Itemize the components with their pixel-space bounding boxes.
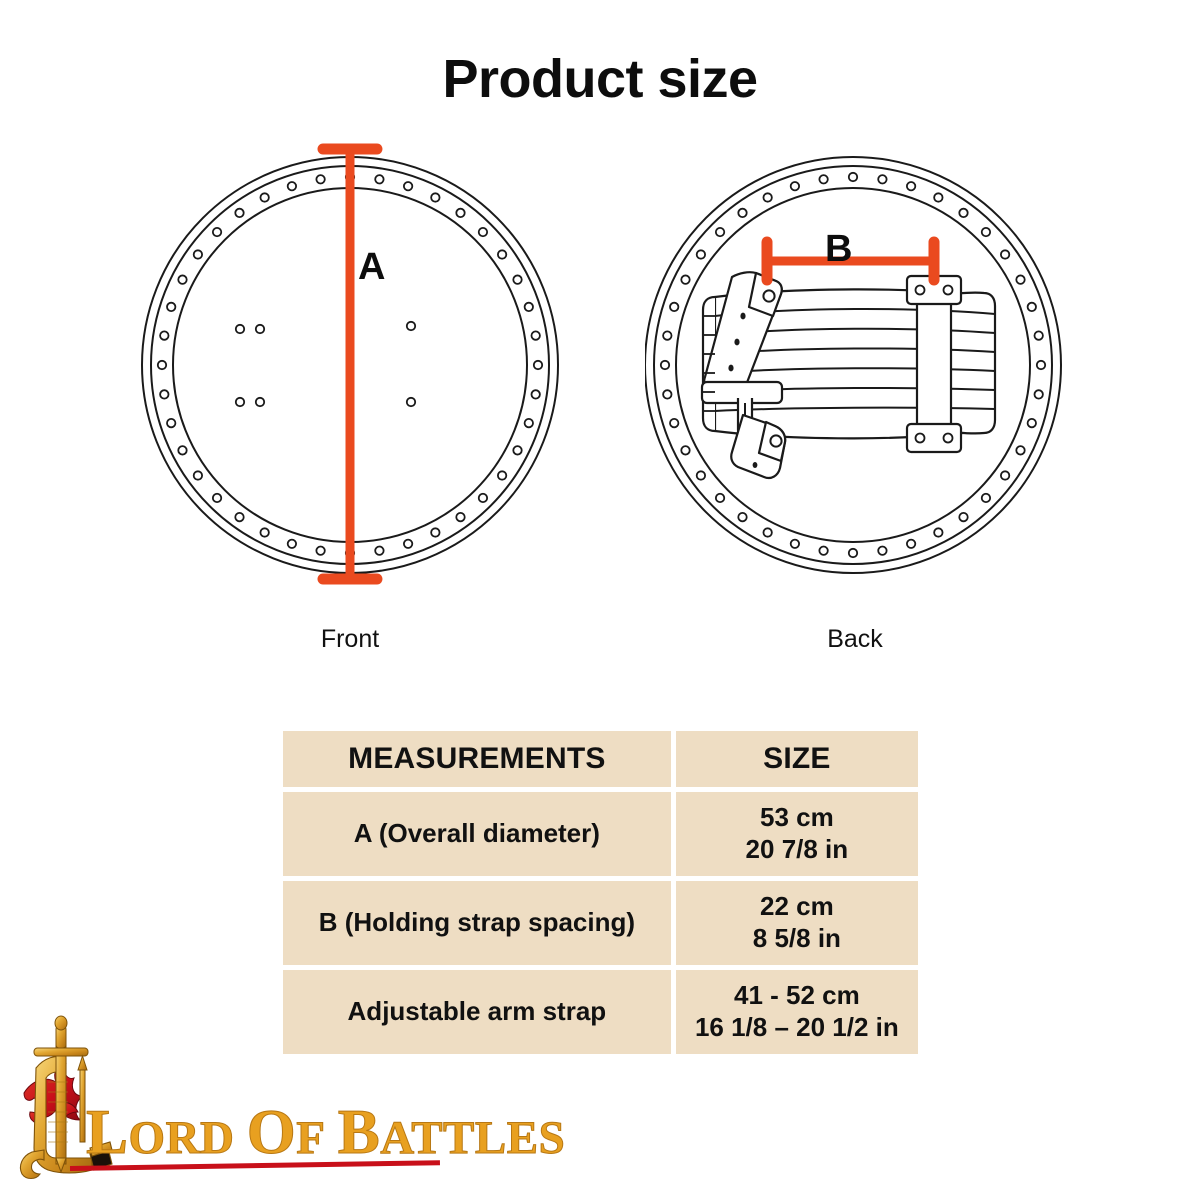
rim-rivet [982,228,990,236]
rim-rivet [167,419,175,427]
table-header-row: MEASUREMENTS SIZE [283,731,918,787]
face-fixing-hole [407,322,415,330]
rim-rivet [907,182,915,190]
rim-rivet [1028,419,1036,427]
rim-rivet [1034,390,1042,398]
rim-rivet [1001,471,1009,479]
table-row: B (Holding strap spacing) 22 cm 8 5/8 in [283,881,918,965]
face-fixing-hole [407,398,415,406]
rim-rivet [663,390,671,398]
rim-rivet [670,419,678,427]
wordmark-battles-rest: ATTLES [380,1112,565,1164]
rim-rivet [663,331,671,339]
rim-rivet [431,193,439,201]
strap-tip-rivet-bottom [770,435,781,446]
rim-rivet [934,193,942,201]
rim-rivet [404,540,412,548]
rim-rivet [456,209,464,217]
rim-rivet [160,331,168,339]
plate-rivet [916,286,925,295]
rim-rivet [260,528,268,536]
rim-rivet [849,549,857,557]
rim-rivet [525,303,533,311]
rim-rivet [878,175,886,183]
rim-rivet [791,540,799,548]
rim-rivet [661,361,669,369]
strap-hole [740,313,745,320]
rim-rivet [498,250,506,258]
rim-rivet [763,193,771,201]
rim-rivet [235,209,243,217]
rim-rivet [531,390,539,398]
brand-wordmark: LORD OF BATTLES [86,1096,565,1169]
rim-rivet [982,494,990,502]
rim-rivet [213,494,221,502]
rim-rivet [1016,275,1024,283]
rim-rivet [738,209,746,217]
plate-rivet [916,434,925,443]
rim-rivet [194,471,202,479]
rim-rivet [404,182,412,190]
value-metric: 22 cm [676,891,918,923]
measurement-value-arm-strap: 41 - 52 cm 16 1/8 – 20 1/2 in [676,970,918,1054]
rim-rivet [716,228,724,236]
rim-rivet [525,419,533,427]
rim-rivet [849,173,857,181]
rim-rivet [160,390,168,398]
rim-rivet [235,513,243,521]
rim-rivet [959,513,967,521]
dimension-b-label: B [825,230,852,268]
wordmark-of-cap: O [247,1097,297,1167]
measurement-name-b: B (Holding strap spacing) [283,881,671,965]
rim-rivet [670,303,678,311]
strap-hole [728,365,733,372]
rim-rivet [479,494,487,502]
front-view-caption: Front [140,625,560,654]
header-measurements: MEASUREMENTS [283,731,671,787]
heraldic-flourish [24,1064,82,1126]
rim-rivet [681,275,689,283]
wordmark-lord-rest: ORD [129,1112,235,1164]
rim-rivet [697,471,705,479]
rim-rivet [431,528,439,536]
rim-rivet [288,540,296,548]
rim-rivet [738,513,746,521]
face-fixing-hole-group [236,322,415,406]
rim-rivet [534,361,542,369]
rim-rivet [934,528,942,536]
rim-rivet [316,546,324,554]
rim-rivet [288,182,296,190]
strap-hole [734,339,739,346]
wordmark-lord-cap: L [86,1097,129,1167]
dimension-a-label: A [358,248,385,286]
shield-front-figure: A Front [140,130,560,670]
dimension-a-line [323,149,377,579]
shield-back-drawing [645,130,1065,630]
rim-rivet [375,175,383,183]
face-fixing-hole [236,398,244,406]
rim-rivet [907,540,915,548]
rim-rivet [213,228,221,236]
table-row: A (Overall diameter) 53 cm 20 7/8 in [283,792,918,876]
rim-rivet [531,331,539,339]
wordmark-battles-cap: B [338,1097,381,1167]
strap-hole [753,462,758,468]
measurement-name-a: A (Overall diameter) [283,792,671,876]
strap-tip-rivet-top [763,290,774,301]
shield-front-drawing [140,130,560,630]
page-title: Product size [0,48,1200,110]
rim-rivet [375,546,383,554]
rim-rivet [791,182,799,190]
value-metric: 53 cm [676,802,918,834]
wordmark-of-rest: F [296,1112,325,1164]
rim-rivet [763,528,771,536]
value-imperial: 20 7/8 in [676,834,918,866]
rim-rivet [513,275,521,283]
face-fixing-hole [256,398,264,406]
rim-rivet [1037,361,1045,369]
value-imperial: 8 5/8 in [676,923,918,955]
face-fixing-hole [256,325,264,333]
rim-rivet [681,446,689,454]
back-view-caption: Back [645,625,1065,654]
rim-rivet [260,193,268,201]
rim-rivet [178,275,186,283]
rim-rivet [697,250,705,258]
holding-strap-assembly [702,272,995,478]
rim-rivet [1028,303,1036,311]
face-fixing-hole [236,325,244,333]
rim-rivet [959,209,967,217]
rim-rivet [513,446,521,454]
plate-rivet [944,434,953,443]
header-size: SIZE [676,731,918,787]
rim-rivet [316,175,324,183]
rim-rivet [1001,250,1009,258]
rim-rivet [819,175,827,183]
rim-rivet [819,546,827,554]
rim-rivet [878,546,886,554]
rim-rivet [167,303,175,311]
rim-rivet [1016,446,1024,454]
measurement-value-b: 22 cm 8 5/8 in [676,881,918,965]
rim-rivet [716,494,724,502]
rim-rivet [479,228,487,236]
rim-rivet [1034,331,1042,339]
value-imperial: 16 1/8 – 20 1/2 in [676,1012,918,1044]
rim-rivet [178,446,186,454]
rim-rivet [498,471,506,479]
shield-back-figure: B Back [645,130,1065,670]
value-metric: 41 - 52 cm [676,980,918,1012]
lord-of-battles-logo: LORD OF BATTLES [8,1008,478,1188]
measurement-value-a: 53 cm 20 7/8 in [676,792,918,876]
plate-rivet [944,286,953,295]
rim-rivet [194,250,202,258]
rim-rivet [456,513,464,521]
rim-rivet [158,361,166,369]
product-diagrams: A Front [0,130,1200,670]
